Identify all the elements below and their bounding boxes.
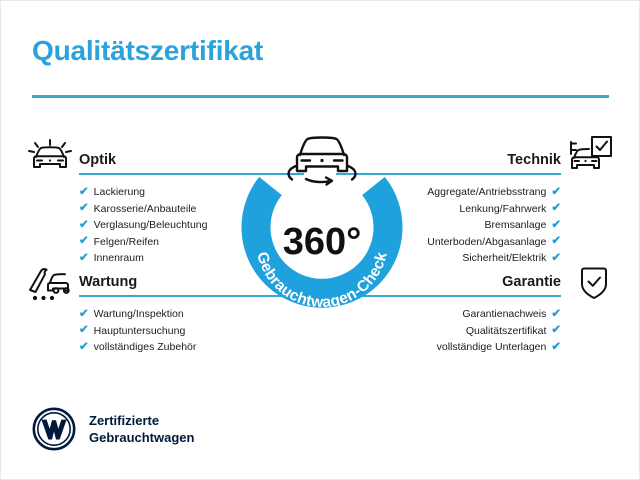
- list-item: vollständige Unterlagen ✔: [336, 339, 561, 356]
- car-rotate-icon: [289, 138, 356, 185]
- check-icon: ✔: [79, 203, 89, 215]
- check-icon: ✔: [551, 325, 561, 337]
- list-item: ✔ vollständiges Zubehör: [79, 339, 304, 356]
- list-item-label: Innenraum: [94, 250, 144, 267]
- list-item-label: Unterboden/Abgasanlage: [427, 234, 546, 251]
- footer-brand-text: Zertifizierte Gebrauchtwagen: [89, 412, 194, 446]
- check-icon: ✔: [551, 220, 561, 232]
- list-item: Qualitätszertifikat ✔: [336, 323, 561, 340]
- list-item-label: Sicherheit/Elektrik: [462, 250, 546, 267]
- list-item-label: Garantienachweis: [462, 306, 546, 323]
- check-icon: ✔: [551, 203, 561, 215]
- list-item-label: Verglasung/Beleuchtung: [94, 217, 208, 234]
- car-checkbox-icon: [567, 134, 613, 174]
- check-icon: ✔: [551, 309, 561, 321]
- page-title: Qualitätszertifikat: [32, 35, 263, 67]
- list-item-label: vollständiges Zubehör: [94, 339, 197, 356]
- check-icon: ✔: [79, 220, 89, 232]
- list-item-label: Felgen/Reifen: [94, 234, 159, 251]
- list-item-label: Hauptuntersuchung: [94, 323, 186, 340]
- check-icon: ✔: [79, 253, 89, 265]
- volkswagen-logo: [32, 407, 76, 451]
- shield-check-icon: [573, 263, 619, 303]
- badge-center-label: 360°: [283, 221, 362, 263]
- list-item-label: vollständige Unterlagen: [437, 339, 547, 356]
- list-item-label: Wartung/Inspektion: [94, 306, 184, 323]
- check-icon: ✔: [79, 342, 89, 354]
- check-icon: ✔: [79, 187, 89, 199]
- check-icon: ✔: [551, 253, 561, 265]
- list-item-label: Lackierung: [94, 184, 145, 201]
- list-item-label: Aggregate/Antriebsstrang: [427, 184, 546, 201]
- list-item-label: Qualitätszertifikat: [466, 323, 547, 340]
- title-divider: [32, 95, 609, 98]
- list-item-label: Bremsanlage: [484, 217, 546, 234]
- list-item-label: Karosserie/Anbauteile: [94, 201, 197, 218]
- check-icon: ✔: [551, 187, 561, 199]
- wrench-car-icon: [24, 263, 70, 303]
- car-shine-icon: [27, 134, 73, 174]
- certificate-page: Qualitätszertifikat Optik ✔ Lackierung ✔: [0, 0, 640, 480]
- check-icon: ✔: [79, 309, 89, 321]
- check-icon: ✔: [79, 236, 89, 248]
- check-icon: ✔: [551, 342, 561, 354]
- list-item: ✔ Hauptuntersuchung: [79, 323, 304, 340]
- list-item-label: Lenkung/Fahrwerk: [459, 201, 546, 218]
- footer-brand: Zertifizierte Gebrauchtwagen: [32, 407, 194, 451]
- check-icon: ✔: [79, 325, 89, 337]
- check-icon: ✔: [551, 236, 561, 248]
- 360-check-badge: 360° Gebrauchtwagen-Check: [226, 123, 418, 319]
